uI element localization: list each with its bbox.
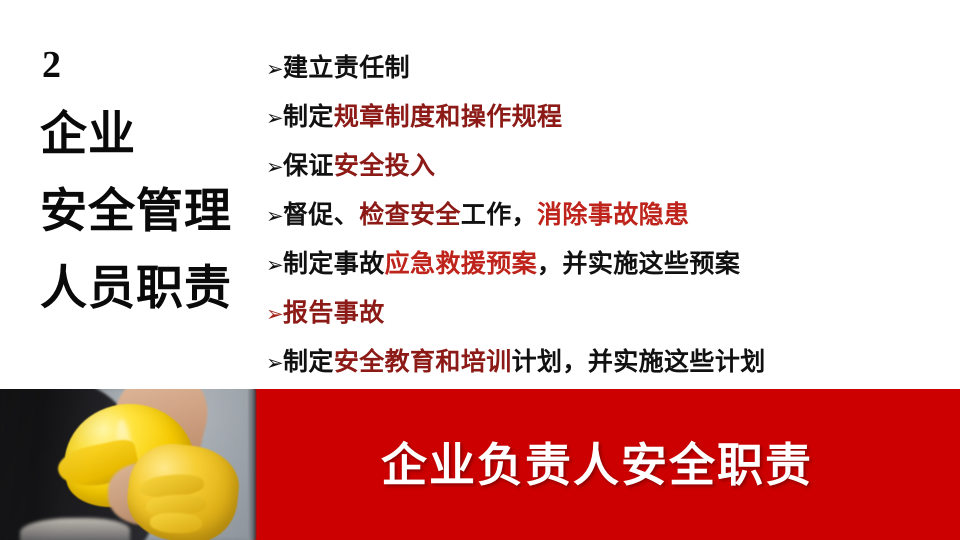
run-text: 建立责任制 — [283, 54, 410, 82]
run-text: 工作 — [461, 201, 512, 229]
bullet-list: ➢ 建立责任制 ➢ 制定规章制度和操作规程 ➢ 保证安全投入 ➢ 督促、检查安全… — [266, 44, 946, 387]
run-text: 计划，并实施这些计划 — [512, 348, 766, 376]
run-text: 消除事故隐患 — [537, 201, 689, 229]
arrow-bullet-icon: ➢ — [266, 290, 283, 339]
banner-title: 企业负责人安全职责 — [256, 389, 960, 540]
photo-banner-divider — [248, 389, 256, 540]
run-text: 操作规程 — [461, 103, 563, 131]
bullet-item-4: ➢ 督促、检查安全工作，消除事故隐患 — [266, 191, 946, 240]
arrow-bullet-icon: ➢ — [266, 45, 283, 94]
run-text: 制定 — [283, 103, 334, 131]
run-text: 安全投入 — [334, 152, 436, 180]
bullet-item-7: ➢ 制定安全教育和培训计划，并实施这些计划 — [266, 338, 946, 387]
heading-line-2: 安全管理 — [40, 187, 255, 234]
run-text: ， — [512, 201, 537, 229]
run-text: 规章制度和 — [334, 103, 461, 131]
bullet-text-6: 报告事故 — [283, 289, 385, 338]
heading-line-3: 人员职责 — [40, 264, 255, 311]
arrow-bullet-icon: ➢ — [266, 339, 283, 388]
run-text: 报告事故 — [283, 299, 385, 327]
bullet-text-4: 督促、检查安全工作，消除事故隐患 — [283, 191, 689, 240]
worker-jeans — [20, 518, 130, 540]
run-text: ，并实施这些预案 — [537, 250, 740, 278]
bullet-text-5: 制定事故应急救援预案，并实施这些预案 — [283, 240, 740, 289]
slide-content-area: 2 企业 安全管理 人员职责 ➢ 建立责任制 ➢ 制定规章制度和操作规程 ➢ 保… — [0, 0, 960, 389]
run-text: 应急救援预案 — [385, 250, 537, 278]
heading-line-1: 企业 — [40, 110, 255, 157]
arrow-bullet-icon: ➢ — [266, 94, 283, 143]
run-text: 安全教育和培训 — [334, 348, 512, 376]
arrow-bullet-icon: ➢ — [266, 192, 283, 241]
bullet-text-1: 建立责任制 — [283, 44, 410, 93]
bullet-item-3: ➢ 保证安全投入 — [266, 142, 946, 191]
bullet-item-5: ➢ 制定事故应急救援预案，并实施这些预案 — [266, 240, 946, 289]
run-text: 督促、 — [283, 201, 359, 229]
bullet-item-6: ➢ 报告事故 — [266, 289, 946, 338]
section-number: 2 — [42, 46, 255, 84]
bullet-item-2: ➢ 制定规章制度和操作规程 — [266, 93, 946, 142]
bullet-text-7: 制定安全教育和培训计划，并实施这些计划 — [283, 338, 766, 387]
left-heading-column: 2 企业 安全管理 人员职责 — [40, 46, 255, 311]
arrow-bullet-icon: ➢ — [266, 143, 283, 192]
bullet-text-3: 保证安全投入 — [283, 142, 435, 191]
bottom-banner: 企业负责人安全职责 — [0, 389, 960, 540]
run-text: 制定事故 — [283, 250, 385, 278]
run-text: 检查安全 — [359, 201, 461, 229]
worker-hardhat-photo — [0, 389, 253, 540]
bullet-text-2: 制定规章制度和操作规程 — [283, 93, 562, 142]
arrow-bullet-icon: ➢ — [266, 241, 283, 290]
run-text: 保证 — [283, 152, 334, 180]
run-text: 制定 — [283, 348, 334, 376]
slide-root: 2 企业 安全管理 人员职责 ➢ 建立责任制 ➢ 制定规章制度和操作规程 ➢ 保… — [0, 0, 960, 540]
bullet-item-1: ➢ 建立责任制 — [266, 44, 946, 93]
